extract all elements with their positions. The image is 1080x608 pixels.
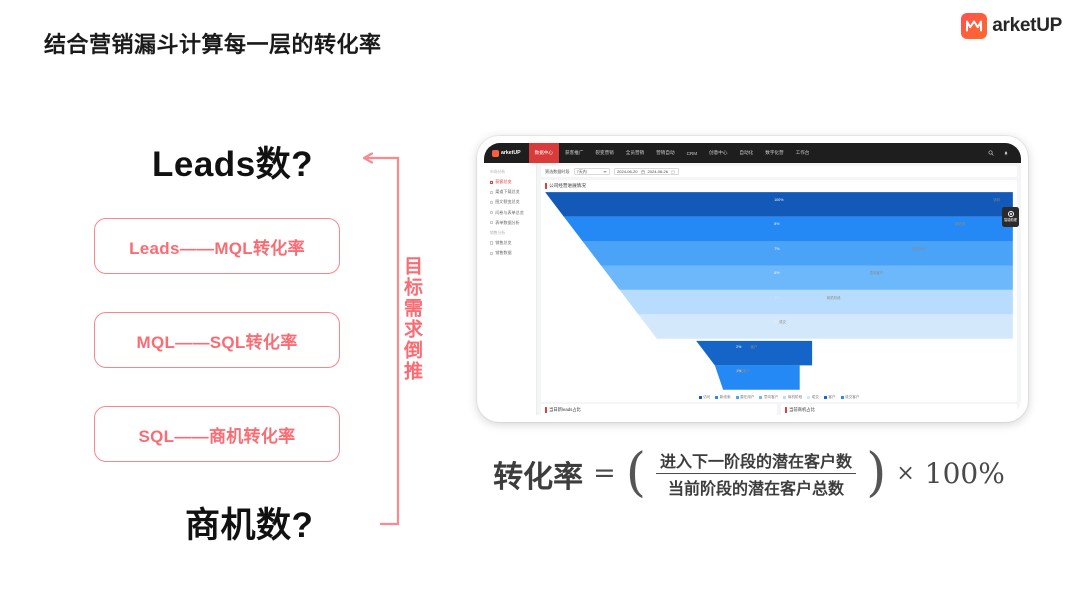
date-range-picker[interactable]: 2024-06-20 2024-06-26 [614, 168, 679, 176]
bottom-card-opportunity-share: 当前商机占比 [781, 404, 1017, 415]
legend-item-1[interactable]: 访问 [699, 395, 711, 400]
formula-equals: = [593, 458, 616, 489]
nav-item-crm[interactable]: CRM [681, 143, 703, 163]
nav-item-acquisition[interactable]: 获客推广 [559, 143, 589, 163]
bullet-icon [490, 181, 493, 184]
app-logo-text: arketUP [501, 150, 521, 156]
sidebar-group-market: 市场分析 [490, 170, 533, 175]
leads-count-question: Leads数? [152, 136, 313, 187]
marketup-logo-icon [492, 150, 499, 157]
date-range-select-value: 7天内 [577, 169, 587, 175]
sidebar-item-form-analysis[interactable]: 表单数据分析 [488, 218, 533, 228]
formula-fraction: 进入下一阶段的潜在客户数 当前阶段的潜在客户总数 [656, 448, 856, 499]
sidebar-item-label: 表单数据分析 [495, 220, 520, 226]
funnel-stage-label-1: 访问 [993, 198, 1000, 203]
product-screenshot-mockup: arketUP 数据中心 获客推广 裂变营销 全员营销 营销自动 CRM 创意中… [477, 136, 1028, 422]
legend-swatch [841, 396, 844, 399]
legend-label: 新线索 [720, 395, 731, 400]
brand-name: arketUP [992, 15, 1062, 37]
funnel-stage-label-7: 客户 [750, 345, 757, 350]
sidebar-item-label: 图文裂变总览 [495, 199, 520, 205]
legend-swatch [759, 396, 762, 399]
bottom-cards: 当日新leads占比 当前商机占比 [541, 402, 1017, 416]
sidebar-group-sales: 销售分析 [490, 231, 533, 236]
rate-box-mql-to-sql: MQL——SQL转化率 [94, 312, 340, 368]
bottom-card-new-leads-share: 当日新leads占比 [541, 404, 777, 415]
app-sidebar: 市场分析 获客总览 渠道下载总览 图文裂变总览 问卷与表单总览 [484, 163, 537, 415]
date-end-value: 2024-06-26 [648, 169, 668, 174]
search-icon[interactable] [988, 150, 994, 156]
filter-bar: 筛选数据时段 7天内 2024-06-20 2024-06-26 [541, 166, 1017, 177]
legend-item-7[interactable]: 客户 [824, 395, 836, 400]
legend-swatch [783, 396, 786, 399]
formula-numerator: 进入下一阶段的潜在客户数 [656, 448, 856, 473]
app-nav-right [988, 150, 1013, 156]
calendar-icon [641, 170, 645, 174]
legend-label: 潜在用户 [740, 395, 754, 400]
title-accent-bar [785, 407, 787, 413]
sidebar-item-label: 销售数据 [495, 250, 511, 256]
formula-paren-close: ) [866, 453, 886, 495]
nav-item-data-center[interactable]: 数据中心 [529, 143, 559, 163]
sidebar-item-survey-form[interactable]: 问卷与表单总览 [488, 208, 533, 218]
funnel-percent-3: 7% [774, 247, 779, 251]
legend-label: 客户 [828, 395, 835, 400]
funnel-chart: 100% 8% 7% 6% 4% 3% 2% 1% 访问 新线索 潜在用户 意向… [541, 190, 1017, 394]
funnel-stage-label-3: 潜在用户 [912, 247, 926, 252]
bullet-icon [490, 201, 493, 204]
title-accent-bar [545, 407, 547, 413]
legend-swatch [824, 396, 827, 399]
sidebar-item-label: 渠道下载总览 [495, 189, 520, 195]
sidebar-item-acquisition-overview[interactable]: 获客总览 [488, 177, 533, 187]
nav-item-automation[interactable]: 自动化 [733, 143, 759, 163]
nav-item-allstaff[interactable]: 全员营销 [620, 143, 650, 163]
bullet-icon [490, 221, 493, 224]
legend-item-4[interactable]: 意向客户 [759, 395, 778, 400]
app-body: 市场分析 获客总览 渠道下载总览 图文裂变总览 问卷与表单总览 [484, 163, 1021, 415]
rate-box-sql-to-opportunity: SQL——商机转化率 [94, 406, 340, 462]
legend-item-6[interactable]: 成交 [807, 395, 819, 400]
marketup-logo-icon [961, 13, 987, 39]
filter-label: 筛选数据时段 [545, 169, 570, 175]
funnel-panel: 公司经营进展情况 [541, 180, 1017, 402]
formula-denominator: 当前阶段的潜在客户总数 [664, 474, 848, 499]
legend-item-2[interactable]: 新线索 [715, 395, 730, 400]
nav-item-automation-marketing[interactable]: 营销自动 [650, 143, 680, 163]
assistant-label: 智能助理 [1004, 219, 1017, 223]
funnel-stage-label-6: 成交 [779, 320, 786, 325]
app-topnav: arketUP 数据中心 获客推广 裂变营销 全员营销 营销自动 CRM 创意中… [484, 143, 1021, 163]
title-accent-bar [545, 183, 547, 189]
bracket-label: 目标需求倒推 [399, 256, 423, 382]
legend-label: 意向客户 [764, 395, 778, 400]
sidebar-item-label: 销售总览 [495, 240, 511, 246]
legend-label: 成交 [812, 395, 819, 400]
bottom-card-title: 当日新leads占比 [549, 407, 581, 413]
date-range-select[interactable]: 7天内 [574, 168, 610, 176]
nav-item-creative-center[interactable]: 创意中心 [703, 143, 733, 163]
sidebar-item-channel-download[interactable]: 渠道下载总览 [488, 187, 533, 197]
nav-item-fission[interactable]: 裂变营销 [589, 143, 619, 163]
app-logo: arketUP [492, 150, 521, 157]
funnel-panel-title: 公司经营进展情况 [541, 183, 1017, 189]
funnel-stage-label-2: 新线索 [955, 222, 966, 227]
legend-label: 访问 [703, 395, 710, 400]
funnel-legend: 访问 新线索 潜在用户 意向客户 商机阶段 成交 客户 成交客户 [541, 394, 1017, 402]
app-screen: arketUP 数据中心 获客推广 裂变营销 全员营销 营销自动 CRM 创意中… [484, 143, 1021, 415]
sidebar-item-label: 问卷与表单总览 [495, 210, 524, 216]
funnel-stage-label-4: 意向客户 [869, 271, 883, 276]
date-start-value: 2024-06-20 [617, 169, 637, 174]
formula-paren-open: ( [626, 453, 646, 495]
assistant-float-button[interactable]: 智能助理 [1002, 207, 1019, 227]
rate-box-leads-to-mql: Leads——MQL转化率 [94, 218, 340, 274]
legend-item-3[interactable]: 潜在用户 [736, 395, 755, 400]
conversion-rate-formula: 转化率 = ( 进入下一阶段的潜在客户数 当前阶段的潜在客户总数 ) × 100… [489, 448, 1009, 499]
nav-item-workbench[interactable]: 工作台 [790, 143, 816, 163]
sidebar-item-label: 获客总览 [495, 179, 511, 185]
chevron-down-icon [603, 171, 607, 173]
bullet-icon [490, 191, 493, 194]
funnel-percent-7: 2% [736, 345, 741, 349]
sidebar-item-sales-data[interactable]: 销售数据 [488, 248, 533, 258]
funnel-stage-label-5: 商机阶段 [827, 296, 841, 301]
sidebar-item-content-fission[interactable]: 图文裂变总览 [488, 197, 533, 207]
legend-label: 成交客户 [845, 395, 859, 400]
legend-item-5[interactable]: 商机阶段 [783, 395, 802, 400]
legend-swatch [699, 396, 702, 399]
legend-item-8[interactable]: 成交客户 [841, 395, 860, 400]
formula-percent: 100% [925, 457, 1005, 490]
rate-box-label: SQL——商机转化率 [139, 422, 296, 447]
calendar-icon-end [671, 170, 675, 174]
funnel-percent-2: 8% [774, 222, 779, 226]
funnel-stage-label-8: 成交客户 [736, 369, 750, 374]
bullet-icon [490, 211, 493, 214]
legend-swatch [736, 396, 739, 399]
bottom-card-title: 当前商机占比 [789, 407, 815, 413]
bell-icon[interactable] [1003, 150, 1009, 156]
app-nav-items: 数据中心 获客推广 裂变营销 全员营销 营销自动 CRM 创意中心 自动化 数字… [529, 143, 816, 163]
sidebar-item-sales-overview[interactable]: 销售总览 [488, 238, 533, 248]
funnel-percent-4: 6% [774, 271, 779, 275]
page-title: 结合营销漏斗计算每一层的转化率 [44, 27, 382, 59]
assistant-icon [1008, 211, 1014, 217]
nav-item-digital[interactable]: 数字化营 [759, 143, 789, 163]
bullet-icon [490, 241, 493, 244]
app-content: 筛选数据时段 7天内 2024-06-20 2024-06-26 [537, 163, 1021, 415]
legend-label: 商机阶段 [788, 395, 802, 400]
rate-box-label: MQL——SQL转化率 [136, 328, 297, 353]
formula-times: × [896, 461, 914, 486]
formula-lhs: 转化率 [493, 452, 583, 496]
funnel-percent-1: 100% [774, 198, 783, 202]
bullet-icon [490, 252, 493, 255]
legend-swatch [807, 396, 810, 399]
funnel-percent-5: 4% [774, 296, 779, 300]
funnel-panel-title-text: 公司经营进展情况 [549, 183, 586, 189]
legend-swatch [715, 396, 718, 399]
rate-box-label: Leads——MQL转化率 [129, 234, 305, 259]
opportunity-count-question: 商机数? [185, 497, 313, 548]
brand-logo: arketUP [961, 13, 1062, 39]
